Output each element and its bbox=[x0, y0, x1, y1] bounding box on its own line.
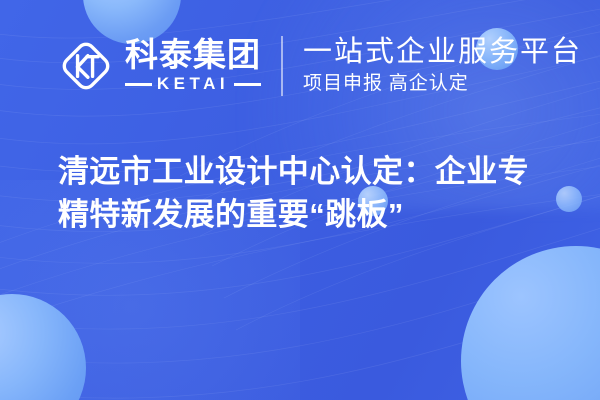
brand-name-cn: 科泰集团 bbox=[125, 38, 261, 72]
brand-name-en-row: KETAI bbox=[125, 74, 261, 94]
ketai-kt-monogram-icon bbox=[56, 36, 116, 96]
brand-wordmark: 科泰集团 KETAI bbox=[125, 38, 261, 94]
banner-header: 科泰集团 KETAI 一站式企业服务平台 项目申报 高企认定 bbox=[0, 0, 600, 132]
decorative-sphere-small bbox=[556, 186, 582, 212]
brand-logo[interactable]: 科泰集团 KETAI bbox=[56, 36, 261, 96]
dash-left-icon bbox=[125, 83, 152, 86]
header-divider bbox=[281, 36, 283, 96]
headline-title: 清远市工业设计中心认定：企业专精特新发展的重要“跳板” bbox=[58, 150, 558, 236]
tagline-block: 一站式企业服务平台 项目申报 高企认定 bbox=[303, 36, 582, 97]
promo-banner: 科泰集团 KETAI 一站式企业服务平台 项目申报 高企认定 清远市工业设计中心… bbox=[0, 0, 600, 400]
brand-name-en: KETAI bbox=[157, 74, 229, 94]
tagline-sub: 项目申报 高企认定 bbox=[303, 71, 582, 97]
tagline-main: 一站式企业服务平台 bbox=[303, 36, 582, 69]
dash-right-icon bbox=[234, 83, 261, 86]
